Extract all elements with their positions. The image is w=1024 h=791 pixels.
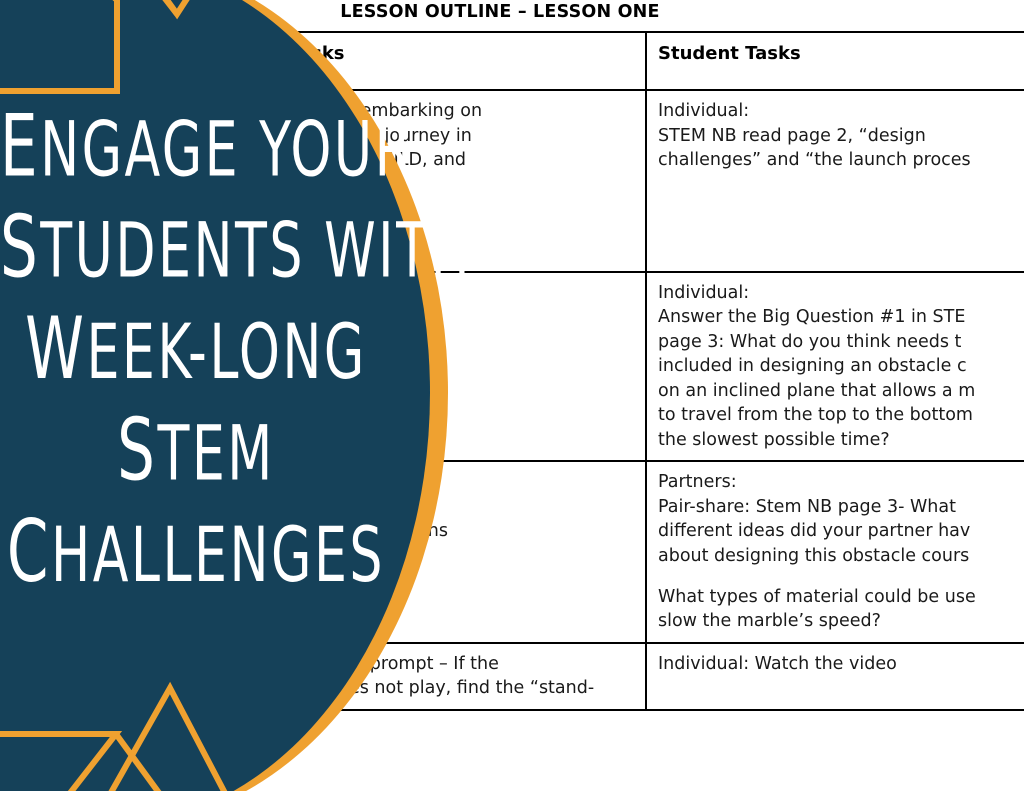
cell-line: What types of material could be use xyxy=(658,585,1024,610)
cell-line: on an inclined plane that allows a m xyxy=(658,379,1024,404)
cell-line: Individual: xyxy=(658,99,1024,124)
cell-line: Individual: Watch the video xyxy=(658,652,1024,677)
cell-line: Pair-share: Stem NB page 3- What xyxy=(658,495,1024,520)
headline-line-1: Engage your xyxy=(0,96,392,197)
cell-line: challenges” and “the launch proces xyxy=(658,148,1024,173)
headline-line-3: week-long xyxy=(0,299,392,400)
cell-line: STEM NB read page 2, “design xyxy=(658,124,1024,149)
cell-line: page 3: What do you think needs t xyxy=(658,330,1024,355)
cell-student-tasks: Partners: Pair-share: Stem NB page 3- Wh… xyxy=(646,461,1024,643)
column-header-teacher-tasks: Tasks xyxy=(277,32,646,90)
cell-line: different ideas did your partner hav xyxy=(658,519,1024,544)
cell-teacher-tasks: he video prompt – If the deo does not pl… xyxy=(277,643,646,710)
column-header-student-tasks: Student Tasks xyxy=(646,32,1024,90)
cell-line: included in designing an obstacle c xyxy=(658,354,1024,379)
table-row: he video prompt – If the deo does not pl… xyxy=(277,643,1024,710)
headline-line-5: challenges xyxy=(0,502,392,603)
cell-line: deo does not play, find the “stand- xyxy=(289,676,635,701)
cell-line: to travel from the top to the bottom xyxy=(658,403,1024,428)
cell-student-tasks: Individual: Answer the Big Question #1 i… xyxy=(646,272,1024,462)
table-header-row: Tasks Student Tasks xyxy=(277,32,1024,90)
cell-line: Answer the Big Question #1 in STE xyxy=(658,305,1024,330)
cell-line: slow the marble’s speed? xyxy=(658,609,1024,634)
headline-line-4: STEM xyxy=(0,400,392,501)
cell-line: the slowest possible time? xyxy=(658,428,1024,453)
cell-line-blank xyxy=(658,568,1024,585)
headline-line-2: students with xyxy=(0,197,392,298)
cell-line: Individual: xyxy=(658,281,1024,306)
cell-student-tasks: Individual: STEM NB read page 2, “design… xyxy=(646,90,1024,272)
promo-headline: Engage your students with week-long STEM… xyxy=(0,96,392,603)
cell-student-tasks: Individual: Watch the video xyxy=(646,643,1024,710)
cell-line: Partners: xyxy=(658,470,1024,495)
cell-line: he video prompt – If the xyxy=(289,652,635,677)
cell-line: about designing this obstacle cours xyxy=(658,544,1024,569)
screenshot-root: LESSON OUTLINE – LESSON ONE Tasks Studen… xyxy=(0,0,1024,791)
